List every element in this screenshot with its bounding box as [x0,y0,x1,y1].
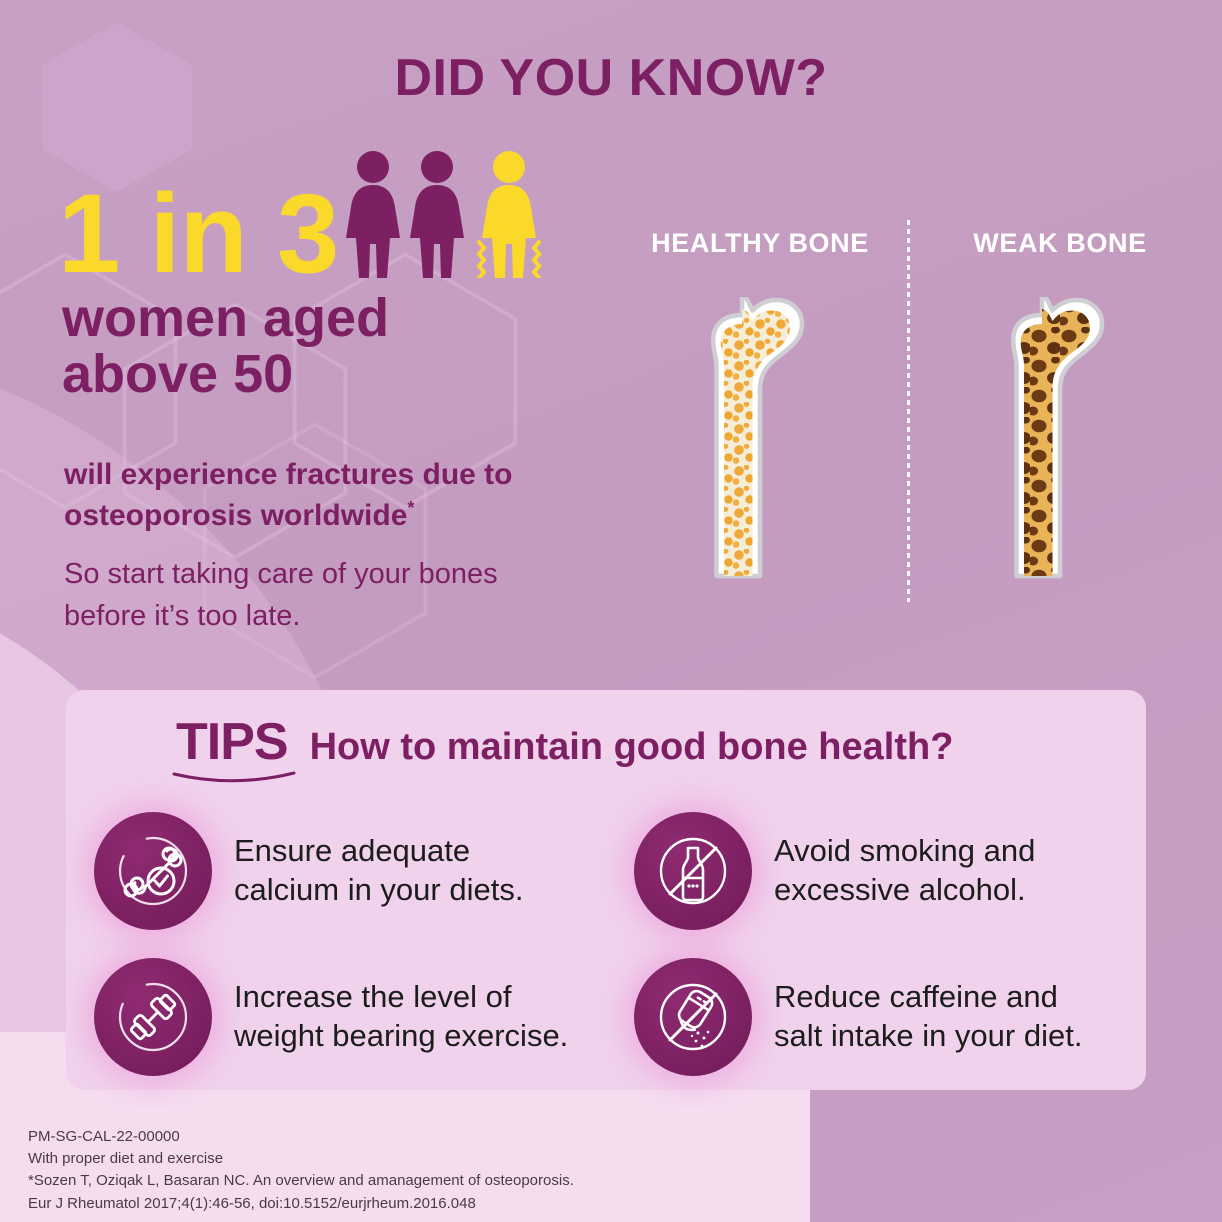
tips-row-1: Ensure adequate calcium in your diets. [66,798,1146,944]
femur-dense-bone-icon [670,297,850,597]
tip-icon-wrap [94,958,212,1076]
body-bold-line-2-wrap: osteoporosis worldwide* [64,496,664,537]
tip-text-alcohol: Avoid smoking and excessive alcohol. [774,832,1035,910]
tips-header: TIPS How to maintain good bone health? [176,712,953,772]
footnote-line-4: Eur J Rheumatol 2017;4(1):46-56, doi:10.… [28,1193,788,1215]
tips-question: How to maintain good bone health? [310,726,954,769]
tip-text-line-1: Ensure adequate [234,832,523,871]
statistic-row: 1 in 3 [58,150,548,282]
statistic-number: 1 in 3 [58,186,338,282]
body-line-1: So start taking care of your bones [64,553,664,595]
footnote-line-1: PM-SG-CAL-22-00000 [28,1126,788,1148]
woman-figure-purple-1-icon [342,150,404,278]
tip-text-line-1: Avoid smoking and [774,832,1035,871]
tip-icon-wrap [634,958,752,1076]
infographic-canvas: DID YOU KNOW? 1 in 3 women aged above 50 [0,0,1222,1222]
body-bold-line-2: osteoporosis worldwide [64,499,407,532]
women-figures-group [342,150,548,278]
tip-text-line-2: weight bearing exercise. [234,1017,568,1056]
headline-line-1: women aged [62,290,682,346]
tip-text-line-2: excessive alcohol. [774,871,1035,910]
tip-text-line-2: calcium in your diets. [234,871,523,910]
page-title: DID YOU KNOW? [0,48,1222,108]
tips-badge: TIPS [176,712,288,772]
no-bottle-icon [654,832,732,910]
footnote-marker: * [407,498,414,518]
tip-text-calcium: Ensure adequate calcium in your diets. [234,832,523,910]
footnote-line-3: *Sozen T, Oziqak L, Basaran NC. An overv… [28,1170,788,1192]
femur-porous-bone-icon [970,297,1150,597]
tip-item-salt: Reduce caffeine and salt intake in your … [606,944,1146,1090]
tips-badge-label: TIPS [176,713,288,771]
tips-underline-icon [172,770,296,786]
bone-check-icon [114,832,192,910]
headline-text: women aged above 50 [62,290,682,402]
footnote: PM-SG-CAL-22-00000 With proper diet and … [28,1126,788,1215]
tip-text-line-2: salt intake in your diet. [774,1017,1082,1056]
healthy-bone-column: HEALTHY BONE [615,228,905,602]
tips-row-2: Increase the level of weight bearing exe… [66,944,1146,1090]
headline-line-2: above 50 [62,346,682,402]
weak-bone-column: WEAK BONE [915,228,1205,602]
no-salt-shaker-icon [654,978,732,1056]
body-line-2: before it’s too late. [64,595,664,637]
tips-panel: TIPS How to maintain good bone health? [66,690,1146,1090]
tip-icon-wrap [634,812,752,930]
woman-figure-purple-2-icon [406,150,468,278]
tip-text-line-1: Reduce caffeine and [774,978,1082,1017]
tip-item-alcohol: Avoid smoking and excessive alcohol. [606,798,1146,944]
weak-bone-label: WEAK BONE [915,228,1205,259]
footnote-line-2: With proper diet and exercise [28,1148,788,1170]
body-text: So start taking care of your bones befor… [64,553,664,637]
healthy-bone-art [615,297,905,602]
body-bold-line-1: will experience fractures due to [64,455,664,496]
tip-text-line-1: Increase the level of [234,978,568,1017]
bone-comparison: HEALTHY BONE [615,228,1205,628]
tip-icon-wrap [94,812,212,930]
tip-item-exercise: Increase the level of weight bearing exe… [66,944,606,1090]
tip-text-salt: Reduce caffeine and salt intake in your … [774,978,1082,1056]
healthy-bone-label: HEALTHY BONE [615,228,905,259]
tips-grid: Ensure adequate calcium in your diets. [66,798,1146,1090]
weak-bone-art [915,297,1205,602]
tip-item-calcium: Ensure adequate calcium in your diets. [66,798,606,944]
body-bold-text: will experience fractures due to osteopo… [64,455,664,536]
bone-divider [907,220,910,602]
dumbbell-icon [114,978,192,1056]
woman-figure-yellow-fractured-icon [470,150,548,278]
tip-text-exercise: Increase the level of weight bearing exe… [234,978,568,1056]
